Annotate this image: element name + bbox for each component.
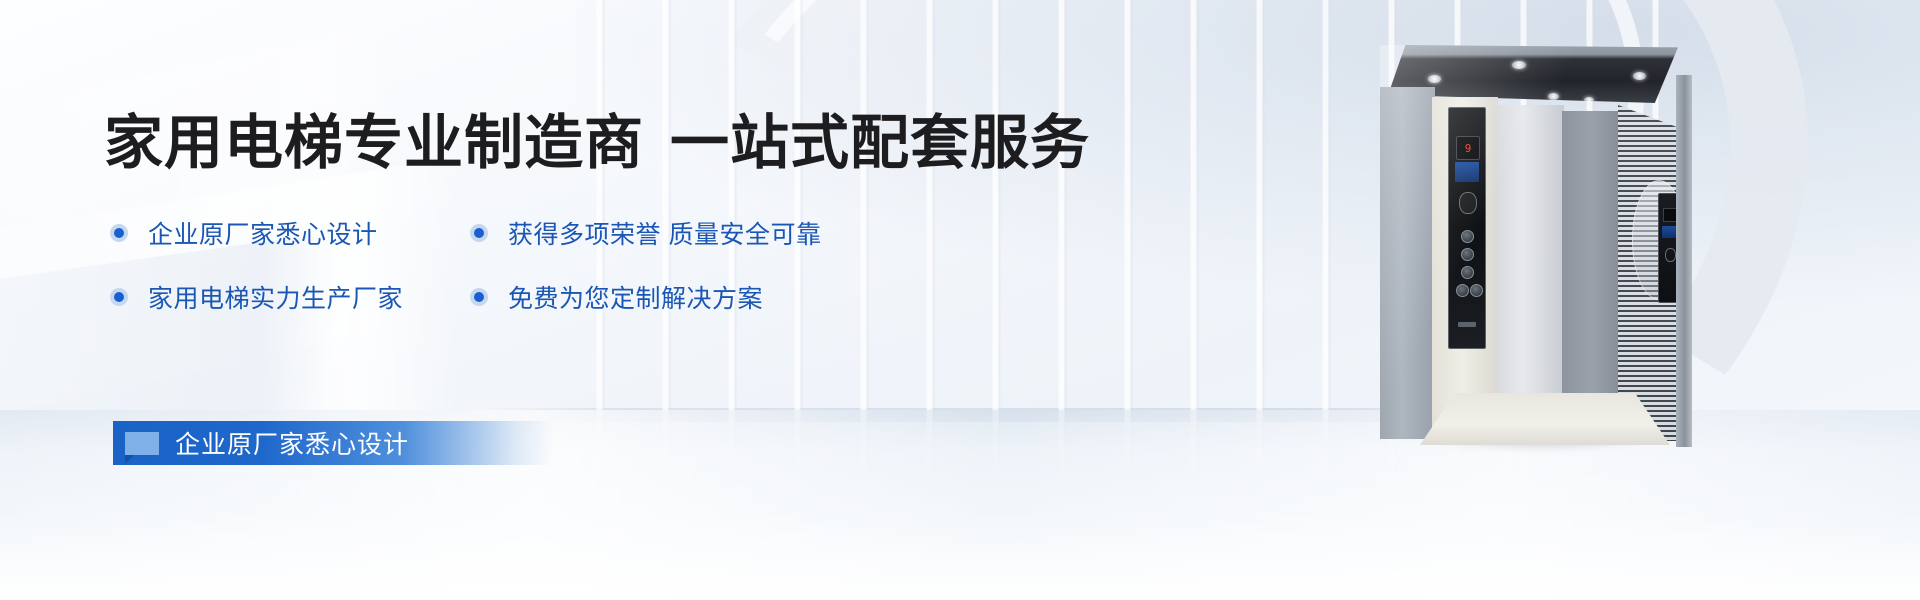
promo-banner: 家用电梯专业制造商一站式配套服务 企业原厂家悉心设计 获得多项荣誉 质量安全可靠… (0, 0, 1920, 600)
door-close-button-icon[interactable] (1470, 284, 1483, 297)
cabin-panel-mid (1496, 105, 1564, 439)
mirrored-info-strip (1662, 226, 1676, 238)
floor-indicator-display: 9 (1456, 136, 1480, 160)
mirrored-floor-indicator (1663, 208, 1677, 222)
feature-item-1: 企业原厂家悉心设计 (110, 215, 470, 251)
feature-row: 家用电梯实力生产厂家 免费为您定制解决方案 (110, 279, 950, 315)
banner-copy: 家用电梯专业制造商一站式配套服务 企业原厂家悉心设计 获得多项荣誉 质量安全可靠… (0, 0, 1100, 600)
dot-bullet-icon (470, 224, 488, 242)
highlight-ribbon[interactable]: 企业原厂家悉心设计 (113, 421, 553, 465)
ceiling-light-icon (1633, 72, 1646, 80)
flag-tag-icon (125, 432, 159, 455)
mirrored-key-switch-icon (1665, 248, 1676, 262)
ribbon-label: 企业原厂家悉心设计 (175, 425, 409, 461)
control-panel[interactable]: 9 (1448, 107, 1486, 349)
cabin-panel-grey (1562, 111, 1622, 439)
dot-bullet-icon (470, 288, 488, 306)
ceiling-light-icon (1584, 97, 1594, 103)
floor-button-icon[interactable] (1461, 266, 1474, 279)
cabin-left-wall (1380, 87, 1435, 439)
home-elevator-cabin: 9 (1380, 45, 1690, 455)
ceiling-light-icon (1428, 75, 1441, 83)
feature-label: 家用电梯实力生产厂家 (148, 279, 403, 315)
floor-indicator-value: 9 (1465, 143, 1472, 154)
floor-button-icon[interactable] (1461, 248, 1474, 261)
feature-label: 获得多项荣誉 质量安全可靠 (508, 215, 821, 251)
feature-item-4: 免费为您定制解决方案 (470, 279, 890, 315)
page-title: 家用电梯专业制造商一站式配套服务 (104, 110, 1090, 178)
key-switch-icon[interactable] (1459, 192, 1477, 214)
door-open-button-icon[interactable] (1456, 284, 1469, 297)
cabin-floor-tile (1420, 393, 1670, 445)
feature-list: 企业原厂家悉心设计 获得多项荣誉 质量安全可靠 家用电梯实力生产厂家 免费为您定… (110, 215, 950, 315)
feature-label: 免费为您定制解决方案 (508, 279, 763, 315)
headline-part-1: 家用电梯专业制造商 (104, 110, 644, 176)
info-strip (1455, 162, 1479, 182)
feature-label: 企业原厂家悉心设计 (148, 215, 378, 251)
feature-item-3: 家用电梯实力生产厂家 (110, 279, 470, 315)
dot-bullet-icon (110, 224, 128, 242)
feature-row: 企业原厂家悉心设计 获得多项荣誉 质量安全可靠 (110, 215, 950, 251)
brand-logo (1458, 322, 1476, 327)
feature-item-2: 获得多项荣誉 质量安全可靠 (470, 215, 890, 251)
floor-button-icon[interactable] (1461, 230, 1474, 243)
ceiling-light-icon (1512, 61, 1526, 69)
ceiling-light-icon (1548, 93, 1559, 100)
cabin-right-jamb (1676, 75, 1692, 447)
dot-bullet-icon (110, 288, 128, 306)
headline-part-2: 一站式配套服务 (670, 110, 1090, 176)
